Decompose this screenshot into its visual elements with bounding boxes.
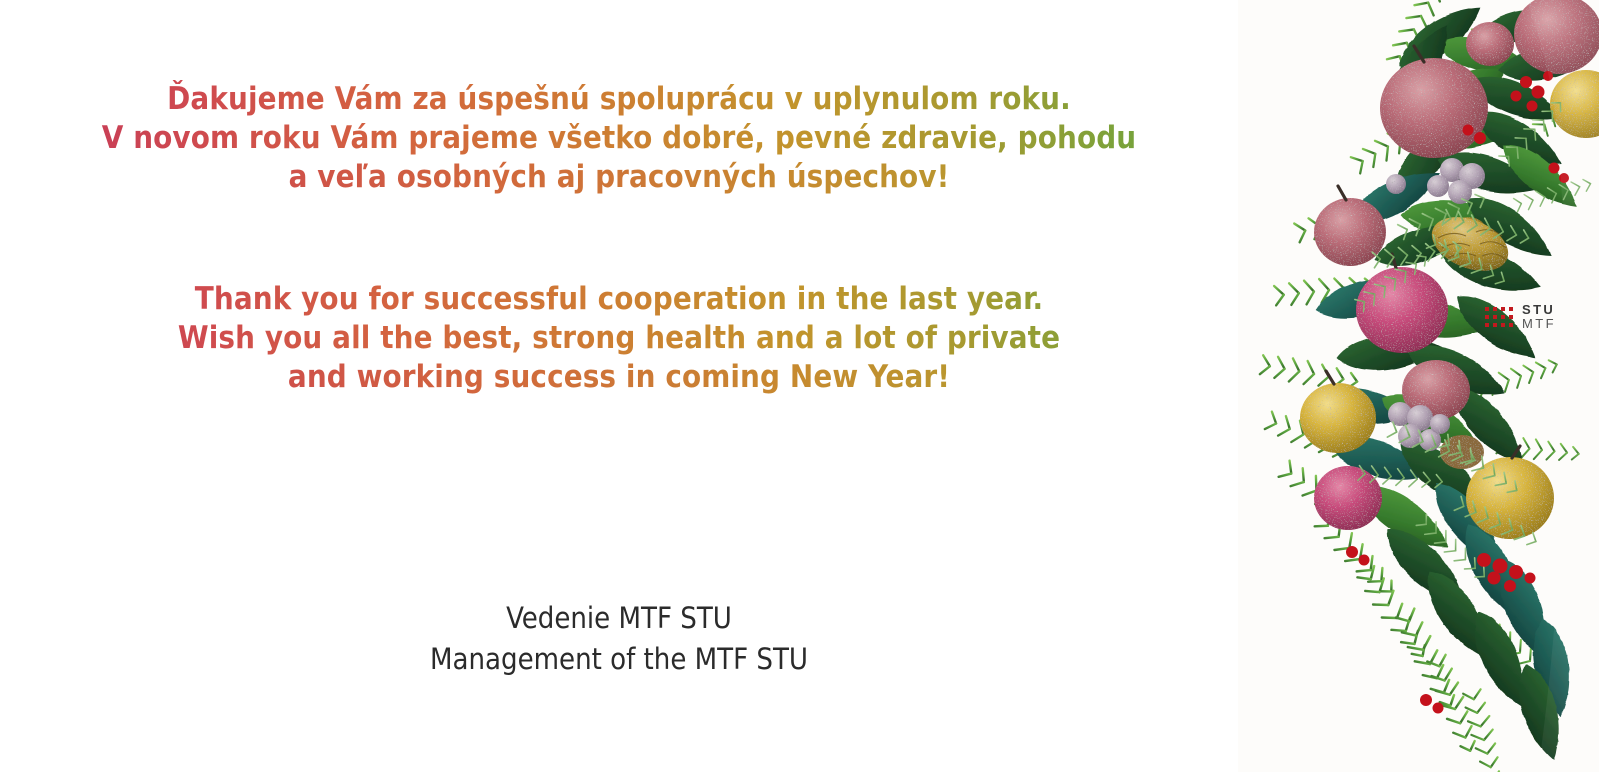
christmas-wreath-photo [1238, 0, 1599, 772]
text-panel: Ďakujeme Vám za úspešnú spoluprácu v upl… [0, 0, 1238, 772]
greeting-card: Ďakujeme Vám za úspešnú spoluprácu v upl… [0, 0, 1599, 772]
greeting-slovak-line-1: Ďakujeme Vám za úspešnú spoluprácu v upl… [0, 80, 1238, 119]
logo-text: STU MTF [1522, 303, 1556, 331]
logo-primary-text: STU [1522, 303, 1556, 317]
greeting-slovak-line-2: V novom roku Vám prajeme všetko dobré, p… [0, 119, 1238, 158]
signature-line-slovak: Vedenie MTF STU [0, 598, 1238, 639]
logo-dot-grid-icon [1485, 307, 1513, 327]
greeting-english-line-1: Thank you for successful cooperation in … [0, 280, 1238, 319]
greeting-slovak-line-3: a veľa osobných aj pracovných úspechov! [0, 158, 1238, 197]
greeting-block-english: Thank you for successful cooperation in … [0, 280, 1238, 397]
greeting-block-slovak: Ďakujeme Vám za úspešnú spoluprácu v upl… [0, 80, 1238, 197]
greeting-english-line-2: Wish you all the best, strong health and… [0, 319, 1238, 358]
greeting-english-line-3: and working success in coming New Year! [0, 358, 1238, 397]
stu-mtf-logo: STU MTF [1485, 303, 1556, 331]
signature-block: Vedenie MTF STU Management of the MTF ST… [0, 598, 1238, 680]
signature-line-english: Management of the MTF STU [0, 639, 1238, 680]
logo-secondary-text: MTF [1522, 317, 1556, 331]
